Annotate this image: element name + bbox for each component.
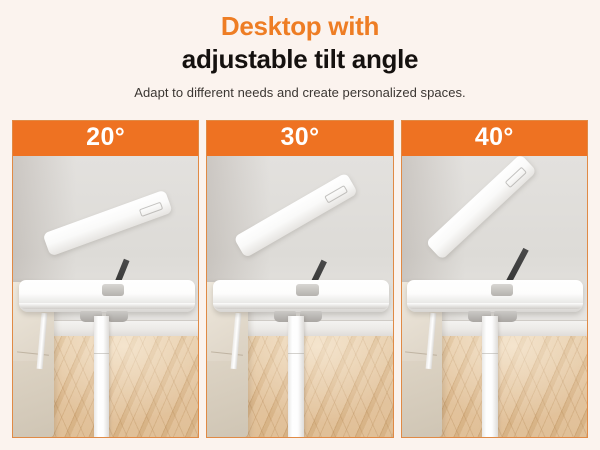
angle-panel-header-40: 40°: [402, 121, 587, 156]
tilt-hinge: [296, 284, 318, 296]
desk-column-leg: [482, 316, 498, 437]
desk-column-leg: [288, 316, 304, 437]
headline-block: Desktop with adjustable tilt angle Adapt…: [0, 0, 600, 114]
desk-photo-20: [13, 156, 198, 437]
angle-label-30: 30°: [280, 125, 319, 150]
angle-panel-40[interactable]: 40°: [401, 120, 588, 438]
angle-panel-row: 20°: [12, 120, 588, 438]
angle-panel-30[interactable]: 30°: [206, 120, 393, 438]
tilt-hinge: [102, 284, 124, 296]
angle-panel-header-30: 30°: [207, 121, 392, 156]
angle-panel-20[interactable]: 20°: [12, 120, 199, 438]
desk-worktop-edge: [213, 303, 389, 309]
desk-photo-40: [402, 156, 587, 437]
desk-column-seam: [482, 353, 498, 354]
desk-column-leg: [94, 316, 110, 437]
desk-worktop-edge: [407, 303, 583, 309]
subtitle-text: Adapt to different needs and create pers…: [0, 74, 600, 101]
desk-worktop-edge: [19, 303, 195, 309]
angle-panel-header-20: 20°: [13, 121, 198, 156]
product-feature-banner: Desktop with adjustable tilt angle Adapt…: [0, 0, 600, 450]
angle-label-40: 40°: [475, 125, 514, 150]
headline-line-1: Desktop with: [0, 0, 600, 41]
desk-photo-30: [207, 156, 392, 437]
tilt-hinge: [491, 284, 513, 296]
angle-label-20: 20°: [86, 125, 125, 150]
headline-line-2: adjustable tilt angle: [0, 41, 600, 74]
desk-column-seam: [94, 353, 110, 354]
desk-column-seam: [288, 353, 304, 354]
